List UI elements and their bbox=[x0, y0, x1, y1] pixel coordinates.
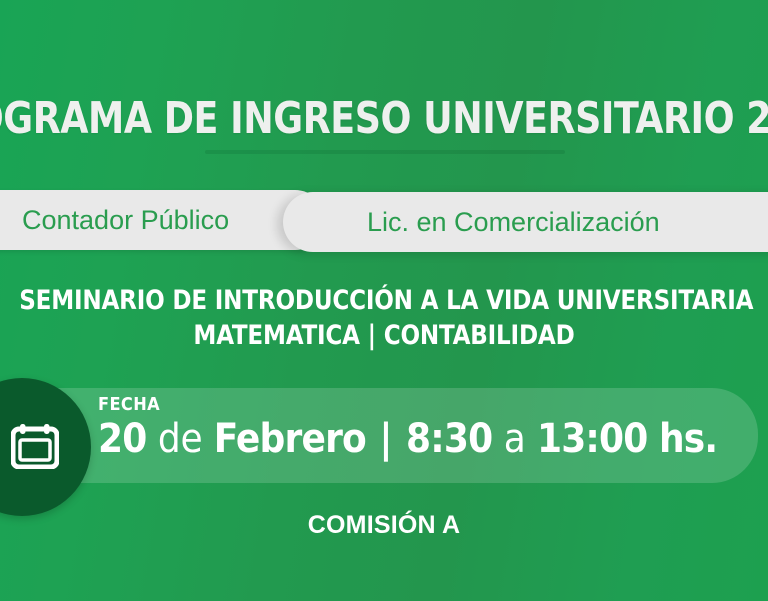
time-start: 8:30 bbox=[406, 416, 492, 462]
comision-label: COMISIÓN A bbox=[0, 511, 768, 540]
tab-lic-comercializacion-label: Lic. en Comercialización bbox=[367, 207, 660, 238]
date-day: 20 bbox=[98, 416, 146, 462]
time-end: 13:00 bbox=[537, 416, 648, 462]
seminar-subjects-line: MATEMATICA | CONTABILIDAD bbox=[19, 318, 749, 353]
date-separator: | bbox=[377, 416, 394, 462]
date-value-line: 20 de Febrero | 8:30 a 13:00 hs. bbox=[98, 416, 717, 462]
poster-title-block: OGRAMA DE INGRESO UNIVERSITARIO 20 bbox=[0, 86, 768, 150]
tab-contador-publico-label: Contador Público bbox=[22, 205, 229, 236]
tab-lic-comercializacion[interactable]: Lic. en Comercialización bbox=[283, 192, 768, 252]
date-month: Febrero bbox=[214, 416, 366, 462]
time-connector: a bbox=[504, 416, 526, 462]
title-divider bbox=[205, 150, 565, 154]
seminar-title-line: SEMINARIO DE INTRODUCCIÓN A LA VIDA UNIV… bbox=[19, 283, 749, 318]
date-label: FECHA bbox=[98, 395, 717, 415]
career-tabs: Contador Público Lic. en Comercializació… bbox=[0, 188, 768, 260]
calendar-icon bbox=[11, 423, 59, 469]
page-title: OGRAMA DE INGRESO UNIVERSITARIO 20 bbox=[0, 93, 768, 144]
date-connector: de bbox=[158, 416, 202, 462]
event-poster: OGRAMA DE INGRESO UNIVERSITARIO 20 Conta… bbox=[0, 0, 768, 601]
date-details: FECHA 20 de Febrero | 8:30 a 13:00 hs. bbox=[98, 395, 717, 462]
tab-contador-publico[interactable]: Contador Público bbox=[0, 190, 325, 250]
time-unit: hs. bbox=[659, 416, 717, 462]
seminar-heading: SEMINARIO DE INTRODUCCIÓN A LA VIDA UNIV… bbox=[0, 283, 768, 353]
